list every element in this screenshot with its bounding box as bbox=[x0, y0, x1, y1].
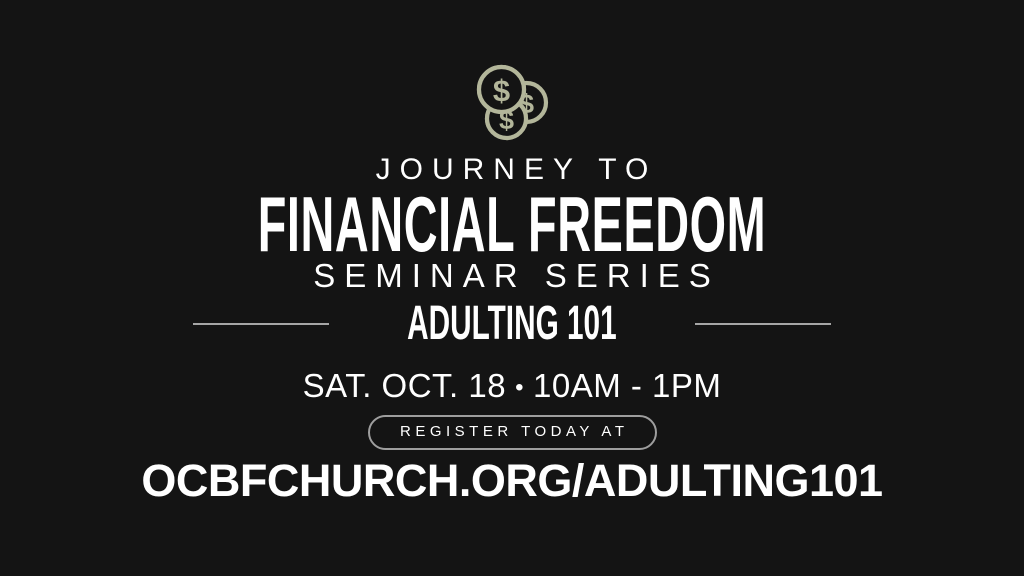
bullet-separator-icon: • bbox=[506, 369, 533, 407]
event-datetime: SAT. OCT. 18•10AM - 1PM bbox=[0, 367, 1024, 407]
event-time: 10AM - 1PM bbox=[533, 367, 721, 404]
session-title: ADULTING 101 bbox=[407, 303, 616, 345]
divider-rule-left bbox=[193, 323, 329, 325]
svg-text:$: $ bbox=[493, 73, 510, 108]
divider-rule-right bbox=[695, 323, 831, 325]
event-date: SAT. OCT. 18 bbox=[303, 367, 506, 404]
three-coins-icon: $ $ $ bbox=[469, 62, 555, 142]
register-row: REGISTER TODAY AT bbox=[0, 415, 1024, 450]
session-title-row: ADULTING 101 bbox=[0, 303, 1024, 345]
register-today-badge: REGISTER TODAY AT bbox=[368, 415, 657, 450]
session-title-wrap: ADULTING 101 bbox=[329, 303, 695, 345]
registration-url[interactable]: OCBFCHURCH.ORG/ADULTING101 bbox=[0, 455, 1024, 507]
subtitle-text: SEMINAR SERIES bbox=[0, 258, 1024, 294]
page-title: FINANCIAL FREEDOM bbox=[205, 185, 819, 263]
promo-poster: $ $ $ JOURNEY TO FINANCIAL FREEDOM SEMIN… bbox=[0, 0, 1024, 576]
